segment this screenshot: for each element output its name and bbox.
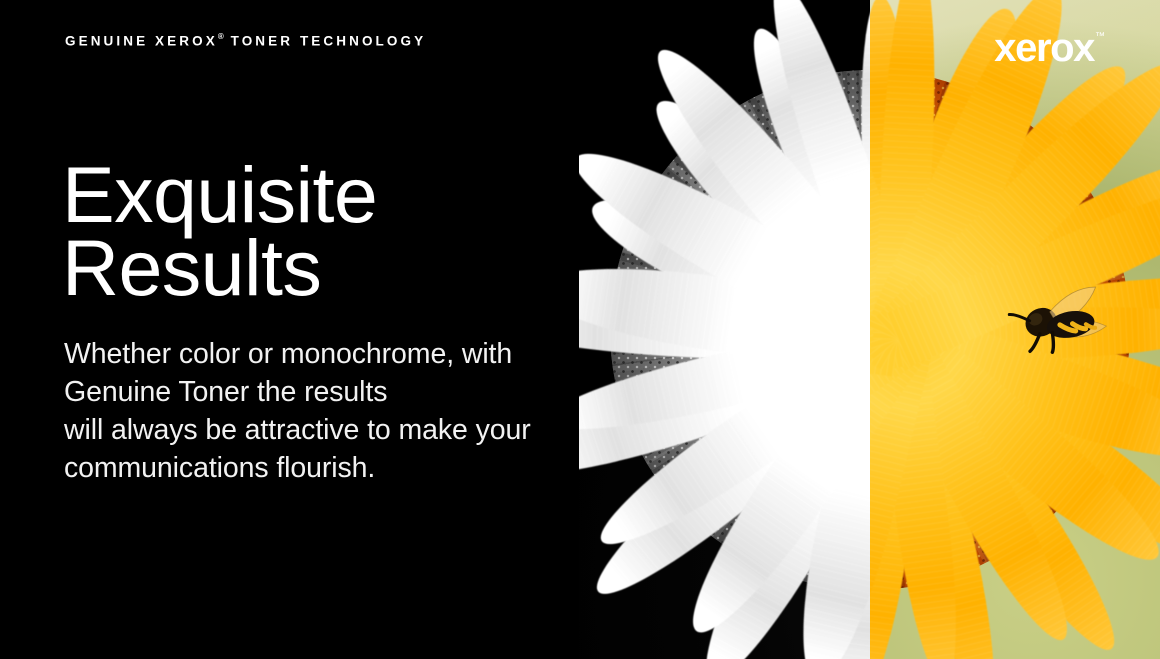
panel-divider [577, 0, 579, 659]
eyebrow-text-before: GENUINE XEROX [65, 34, 218, 49]
page-title: Exquisite Results [62, 158, 377, 305]
body-line-2: Genuine Toner the results [64, 374, 531, 412]
headline-line-2: Results [62, 231, 377, 304]
text-panel: GENUINE XEROX® TONER TECHNOLOGY Exquisit… [0, 0, 578, 659]
eyebrow-heading: GENUINE XEROX® TONER TECHNOLOGY [65, 33, 426, 49]
trademark-symbol: ™ [1095, 31, 1105, 42]
body-line-3: will always be attractive to make your [64, 412, 531, 450]
body-line-1: Whether color or monochrome, with [64, 336, 531, 374]
body-copy: Whether color or monochrome, with Genuin… [64, 336, 531, 488]
photo-monochrome-half [578, 0, 870, 659]
honeybee-icon [1002, 268, 1120, 372]
photo-mono-layer [578, 0, 870, 659]
body-line-4: communications flourish. [64, 450, 531, 488]
poster: xerox™ GENUINE XEROX® TONER TECHNOLOGY E… [0, 0, 1160, 659]
xerox-logo: xerox™ [994, 28, 1104, 68]
registered-mark: ® [218, 32, 224, 41]
eyebrow-text-after: TONER TECHNOLOGY [231, 34, 427, 49]
xerox-wordmark: xerox [994, 26, 1094, 70]
sunflower-photo-panel: xerox™ [578, 0, 1160, 659]
